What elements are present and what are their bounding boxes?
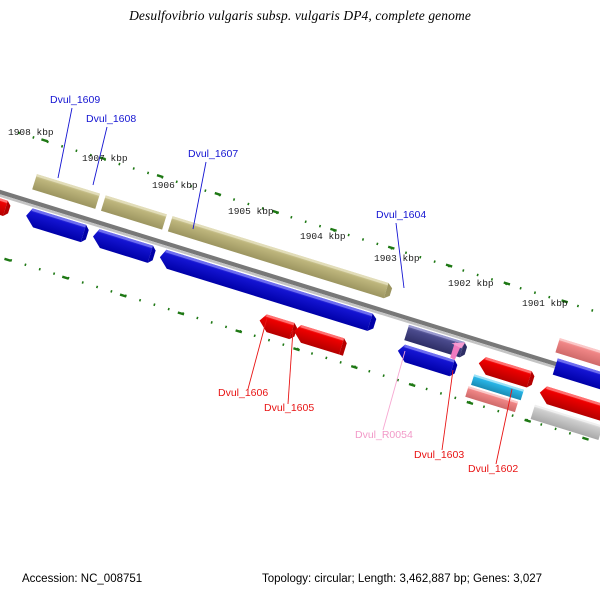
genome-backbone[interactable]	[0, 189, 600, 384]
tick-label: 1907 kbp	[82, 153, 128, 164]
label-dvul-1605: Dvul_1605	[264, 402, 314, 414]
label-dvul-1602: Dvul_1602	[468, 463, 518, 475]
leader-dvul-1603	[442, 370, 453, 450]
label-dvul-1608: Dvul_1608	[86, 113, 136, 125]
genome-map-viewer: Desulfovibrio vulgaris subsp. vulgaris D…	[0, 0, 600, 600]
tick-label: 1904 kbp	[300, 231, 346, 242]
tick-label: 1903 kbp	[374, 253, 420, 264]
genome-stats-text: Topology: circular; Length: 3,462,887 bp…	[262, 573, 542, 585]
label-dvul-1603: Dvul_1603	[414, 449, 464, 461]
leader-dvul-1606	[248, 318, 267, 389]
label-dvul-r0054: Dvul_R0054	[355, 429, 413, 441]
tick-label: 1906 kbp	[152, 180, 198, 191]
gene-dvul-1605[interactable]	[291, 324, 348, 356]
leader-dvul-1609	[58, 108, 72, 178]
label-dvul-1604: Dvul_1604	[376, 209, 426, 221]
leader-dvul-1607	[193, 162, 206, 229]
tick-label: 1905 kbp	[228, 206, 274, 217]
gene-dvul-1606[interactable]	[257, 313, 298, 340]
label-dvul-1609: Dvul_1609	[50, 94, 100, 106]
leader-dvul-1605	[288, 330, 293, 404]
tick-label: 1902 kbp	[448, 278, 494, 289]
gene-dvul-1603[interactable]	[465, 355, 535, 415]
tick-label: 1908 kbp	[8, 127, 54, 138]
accession-text: Accession: NC_008751	[22, 573, 142, 585]
tick-label: 1901 kbp	[522, 298, 568, 309]
genome-map-canvas[interactable]: 1908 kbp 1907 kbp 1906 kbp 1905 kbp 1904…	[0, 0, 600, 600]
label-dvul-1606: Dvul_1606	[218, 387, 268, 399]
gene-dvul-1602[interactable]	[531, 385, 600, 441]
leader-dvul-r0054	[383, 351, 405, 430]
label-dvul-1607: Dvul_1607	[188, 148, 238, 160]
